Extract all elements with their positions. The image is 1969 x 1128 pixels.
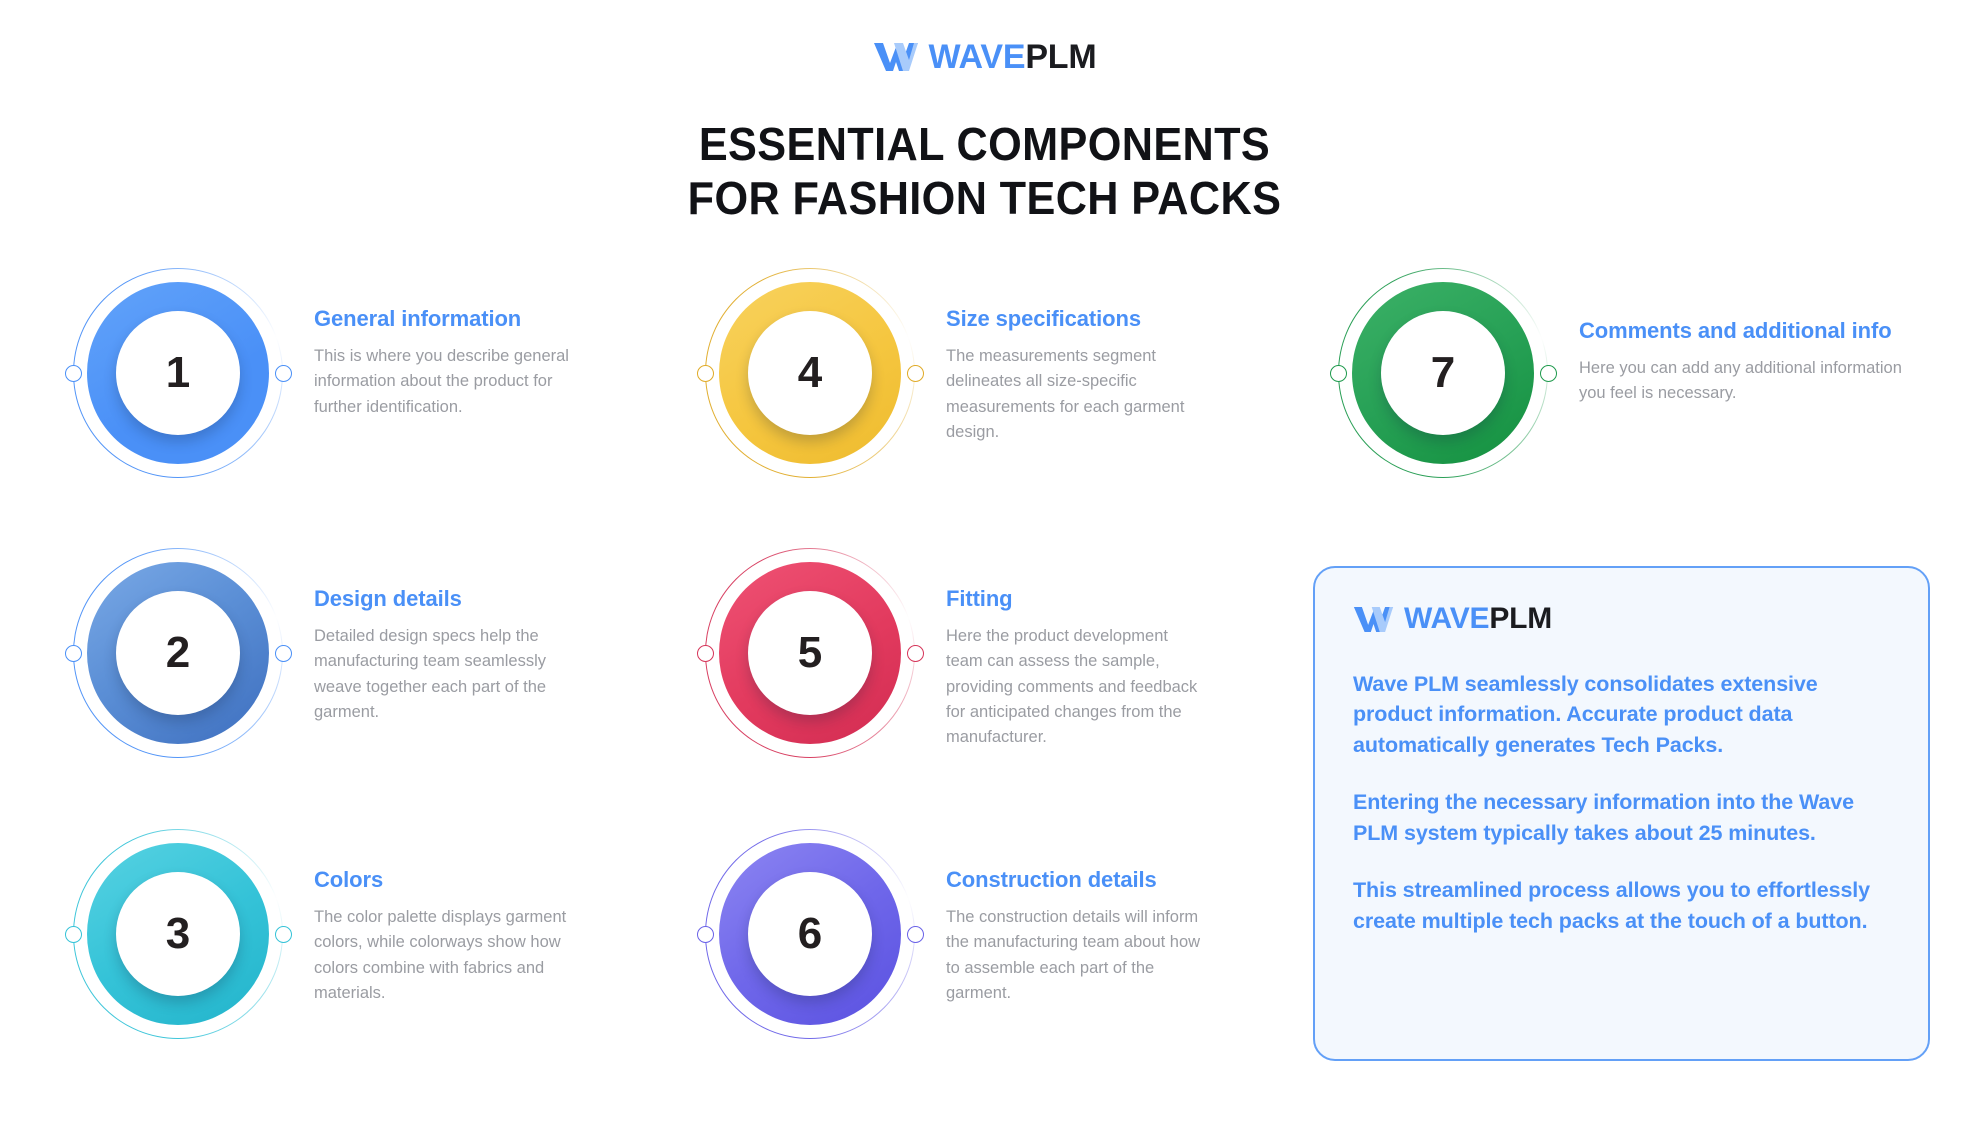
component-item-1: 1 General information This is where you …	[40, 268, 670, 478]
component-item-4: 4 Size specifications The measurements s…	[672, 268, 1302, 478]
connector-node-left-icon	[697, 365, 714, 382]
component-heading: General information	[314, 306, 670, 332]
step-number: 3	[166, 912, 190, 956]
connector-node-left-icon	[65, 365, 82, 382]
component-heading: Size specifications	[946, 306, 1302, 332]
step-badge-7: 7	[1321, 268, 1565, 478]
step-number: 1	[166, 351, 190, 395]
connector-node-left-icon	[697, 645, 714, 662]
waveplm-logo: WAVEPLM	[1353, 604, 1552, 634]
step-number: 2	[166, 631, 190, 675]
component-text-7: Comments and additional info Here you ca…	[1565, 268, 1955, 407]
logo-word-plm: PLM	[1025, 38, 1096, 76]
step-number-circle: 3	[116, 872, 240, 996]
title-line-2: FOR FASHION TECH PACKS	[59, 172, 1910, 226]
step-badge-5: 5	[688, 548, 932, 758]
component-body: This is where you describe general infor…	[314, 344, 576, 419]
component-body: Here you can add any additional informat…	[1579, 356, 1919, 406]
connector-node-left-icon	[65, 645, 82, 662]
component-body: Detailed design specs help the manufactu…	[314, 624, 576, 724]
step-number-circle: 4	[748, 311, 872, 435]
logo-wordmark: WAVEPLM	[929, 40, 1097, 74]
logo-word-plm: PLM	[1489, 602, 1552, 635]
connector-node-right-icon	[275, 645, 292, 662]
component-heading: Colors	[314, 867, 670, 893]
connector-node-left-icon	[1330, 365, 1347, 382]
step-number-circle: 6	[748, 872, 872, 996]
logo-wordmark: WAVEPLM	[1404, 604, 1552, 634]
callout-logo: WAVEPLM	[1353, 604, 1890, 639]
component-heading: Fitting	[946, 586, 1302, 612]
component-text-2: Design details Detailed design specs hel…	[300, 548, 670, 725]
component-item-7: 7 Comments and additional info Here you …	[1305, 268, 1955, 478]
component-heading: Design details	[314, 586, 670, 612]
step-badge-4: 4	[688, 268, 932, 478]
component-body: The construction details will inform the…	[946, 905, 1208, 1005]
page-title: ESSENTIAL COMPONENTS FOR FASHION TECH PA…	[0, 118, 1969, 226]
component-heading: Construction details	[946, 867, 1302, 893]
component-heading: Comments and additional info	[1579, 318, 1955, 344]
component-item-2: 2 Design details Detailed design specs h…	[40, 548, 670, 758]
component-text-5: Fitting Here the product development tea…	[932, 548, 1302, 750]
connector-node-right-icon	[1540, 365, 1557, 382]
waveplm-callout-card: WAVEPLM Wave PLM seamlessly consolidates…	[1313, 566, 1930, 1061]
component-text-4: Size specifications The measurements seg…	[932, 268, 1302, 445]
logo-word-wave: WAVE	[1404, 602, 1489, 635]
connector-node-right-icon	[907, 926, 924, 943]
component-item-3: 3 Colors The color palette displays garm…	[40, 829, 670, 1039]
step-badge-1: 1	[56, 268, 300, 478]
component-body: The measurements segment delineates all …	[946, 344, 1208, 444]
component-body: The color palette displays garment color…	[314, 905, 576, 1005]
connector-node-right-icon	[275, 365, 292, 382]
component-body: Here the product development team can as…	[946, 624, 1208, 749]
step-badge-6: 6	[688, 829, 932, 1039]
connector-node-left-icon	[65, 926, 82, 943]
component-item-6: 6 Construction details The construction …	[672, 829, 1302, 1039]
step-badge-3: 3	[56, 829, 300, 1039]
wave-w-icon	[1353, 605, 1394, 634]
step-number-circle: 1	[116, 311, 240, 435]
component-text-3: Colors The color palette displays garmen…	[300, 829, 670, 1006]
step-number-circle: 2	[116, 591, 240, 715]
step-number: 4	[798, 351, 822, 395]
step-number-circle: 7	[1381, 311, 1505, 435]
logo-word-wave: WAVE	[929, 38, 1026, 76]
step-badge-2: 2	[56, 548, 300, 758]
header-logo: WAVEPLM	[0, 40, 1969, 74]
title-line-1: ESSENTIAL COMPONENTS	[59, 118, 1910, 172]
step-number: 6	[798, 912, 822, 956]
step-number: 5	[798, 631, 822, 675]
callout-paragraph-2: Entering the necessary information into …	[1353, 787, 1890, 849]
connector-node-left-icon	[697, 926, 714, 943]
connector-node-right-icon	[907, 645, 924, 662]
waveplm-logo: WAVEPLM	[873, 40, 1097, 74]
callout-paragraph-1: Wave PLM seamlessly consolidates extensi…	[1353, 669, 1890, 762]
callout-paragraph-3: This streamlined process allows you to e…	[1353, 875, 1890, 937]
infographic-page: WAVEPLM ESSENTIAL COMPONENTS FOR FASHION…	[0, 0, 1969, 1128]
connector-node-right-icon	[907, 365, 924, 382]
step-number: 7	[1431, 351, 1455, 395]
wave-w-icon	[873, 41, 919, 73]
component-item-5: 5 Fitting Here the product development t…	[672, 548, 1302, 758]
component-text-6: Construction details The construction de…	[932, 829, 1302, 1006]
component-text-1: General information This is where you de…	[300, 268, 670, 420]
connector-node-right-icon	[275, 926, 292, 943]
step-number-circle: 5	[748, 591, 872, 715]
